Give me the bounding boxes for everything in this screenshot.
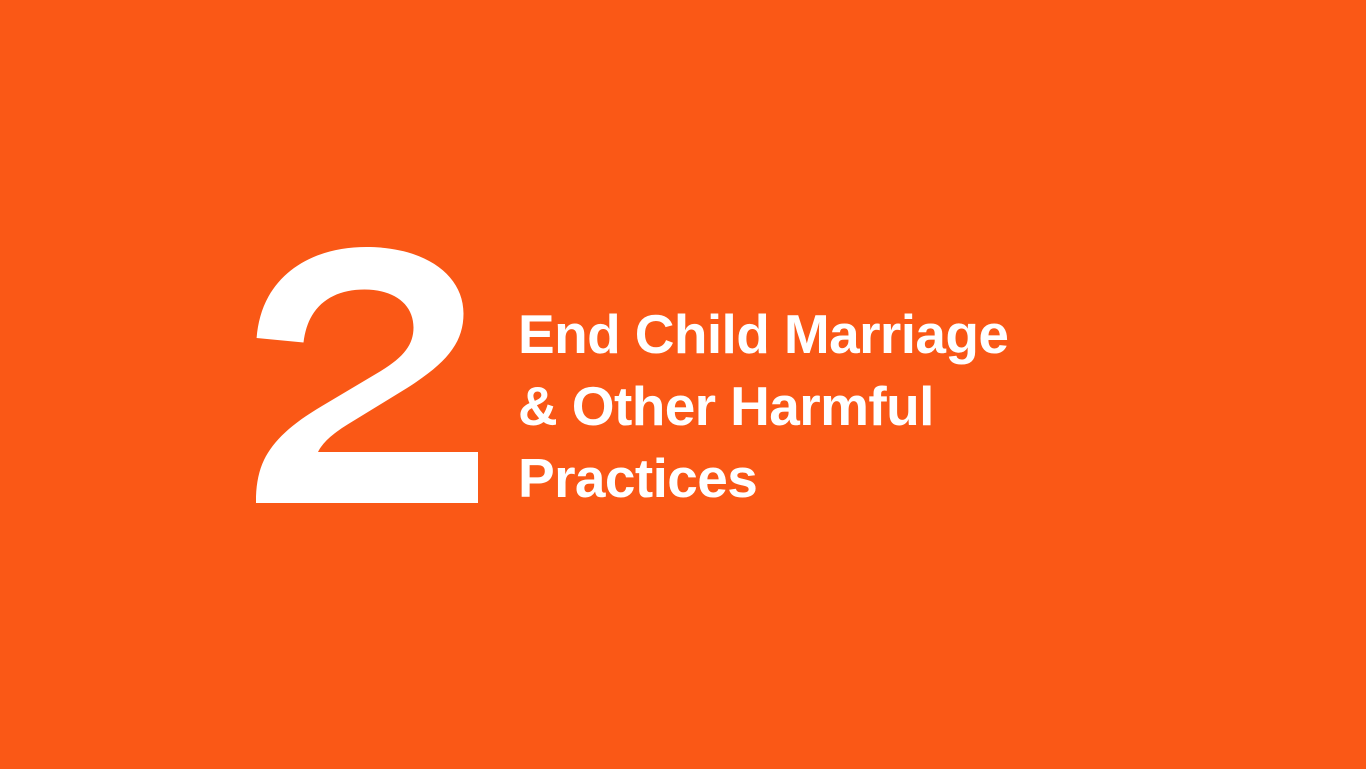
page-title-line-2: & Other Harmful	[518, 370, 1008, 442]
numeral-two-icon	[256, 247, 478, 503]
page-title: End Child Marriage & Other Harmful Pract…	[518, 284, 1008, 514]
slide-canvas: 2 End Child Marriage & Other Harmful Pra…	[0, 0, 1366, 769]
page-title-line-1: End Child Marriage	[518, 298, 1008, 370]
page-title-line-3: Practices	[518, 442, 1008, 514]
step-number-graphic: 2	[256, 247, 478, 503]
slide-content-block: 2 End Child Marriage & Other Harmful Pra…	[256, 247, 1116, 503]
